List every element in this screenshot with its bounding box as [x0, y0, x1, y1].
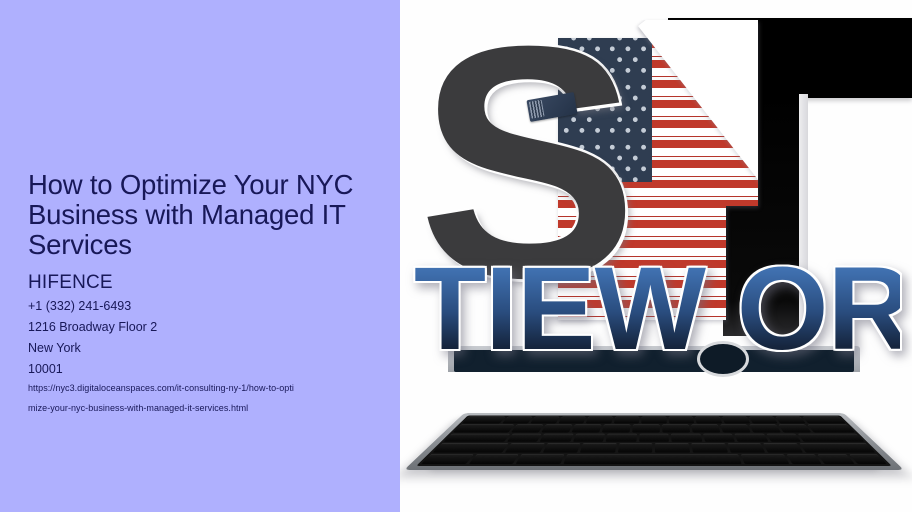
brand-name: HIFENCE [28, 272, 113, 294]
key [669, 417, 695, 424]
keyboard-keys [416, 415, 892, 466]
spacebar-key [563, 454, 741, 464]
key [817, 454, 854, 464]
page-title: How to Optimize Your NYC Business with M… [28, 170, 368, 260]
key [558, 417, 586, 424]
key [695, 417, 722, 424]
key [516, 454, 565, 464]
key [443, 434, 510, 442]
key [786, 454, 822, 464]
key [433, 443, 509, 452]
key [606, 434, 637, 442]
key [691, 425, 720, 432]
key [722, 417, 750, 424]
key [735, 434, 769, 442]
promo-card: How to Optimize Your NYC Business with M… [0, 0, 912, 512]
key [807, 425, 855, 432]
hero-graphic: S TIEW ORT [400, 0, 912, 512]
key [421, 454, 474, 464]
key [530, 417, 559, 424]
key [763, 443, 802, 452]
key [507, 434, 542, 442]
key [462, 417, 506, 424]
keyboard-row [443, 434, 864, 442]
postal-code: 10001 [28, 359, 368, 380]
key [641, 417, 666, 424]
key [691, 443, 727, 452]
key [602, 425, 631, 432]
key [639, 434, 669, 442]
key [749, 417, 778, 424]
key [671, 434, 702, 442]
key [614, 417, 640, 424]
key [720, 425, 750, 432]
key [502, 417, 532, 424]
key [776, 417, 806, 424]
key [741, 454, 789, 464]
key [543, 443, 581, 452]
url-line-1: https://nyc3.digitaloceanspaces.com/it-c… [28, 378, 358, 398]
key [778, 425, 811, 432]
keyboard-deck [404, 413, 904, 470]
key [766, 434, 801, 442]
url-line-2: mize-your-nyc-business-with-managed-it-s… [28, 398, 358, 418]
key [799, 443, 875, 452]
keyboard-row [462, 417, 846, 424]
key [618, 443, 653, 452]
key [573, 434, 605, 442]
contact-block: +1 (332) 241-6493 1216 Broadway Floor 2 … [28, 296, 368, 380]
key [541, 425, 572, 432]
key [632, 425, 660, 432]
overlay-word-text: TIEW ORT [414, 243, 900, 375]
keyboard-row [433, 443, 876, 452]
key [802, 417, 846, 424]
info-panel: How to Optimize Your NYC Business with M… [0, 0, 400, 512]
key [662, 425, 690, 432]
key [798, 434, 865, 442]
city: New York [28, 338, 368, 359]
key [572, 425, 602, 432]
source-url[interactable]: https://nyc3.digitaloceanspaces.com/it-c… [28, 378, 358, 418]
key [749, 425, 780, 432]
key [849, 454, 888, 464]
key [511, 425, 543, 432]
key [468, 454, 519, 464]
phone-number: +1 (332) 241-6493 [28, 296, 368, 317]
key [703, 434, 735, 442]
key [453, 425, 514, 432]
key [540, 434, 574, 442]
key [580, 443, 616, 452]
key [505, 443, 544, 452]
keyboard-row [421, 454, 887, 464]
key [655, 443, 690, 452]
street-address: 1216 Broadway Floor 2 [28, 317, 368, 338]
key [586, 417, 613, 424]
keyboard-row [453, 425, 855, 432]
laptop-keyboard [404, 358, 904, 484]
key [727, 443, 765, 452]
